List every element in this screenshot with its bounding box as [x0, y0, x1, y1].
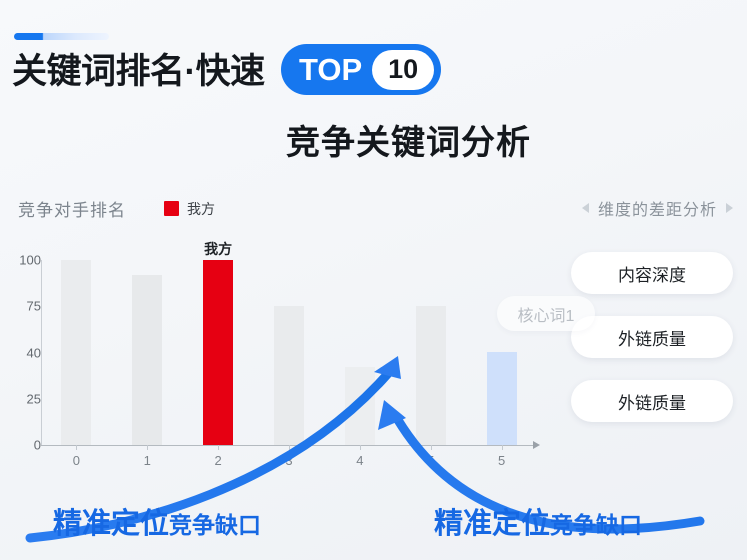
dimension-pill-list: 内容深度外链质量外链质量 [571, 252, 733, 422]
kicker-title: 关键词排名·快速 [12, 54, 265, 89]
legend-swatch-icon [164, 201, 179, 216]
callout-right: 精准定位 竞争缺口 [434, 500, 642, 542]
chart-caption: 竞争对手排名 [18, 196, 126, 221]
dimension-title: 维度的差距分析 [598, 196, 717, 220]
top-rank-badge: TOP 10 [281, 44, 441, 95]
callout-left-strong: 精准定位 [53, 500, 169, 542]
callout-left-light: 竞争缺口 [169, 506, 261, 540]
top-badge-label: TOP [299, 54, 362, 85]
dimension-pill[interactable]: 外链质量 [571, 380, 733, 422]
accent-progress-bar [14, 33, 109, 40]
callout-right-light: 竞争缺口 [550, 506, 642, 540]
callout-left: 精准定位 竞争缺口 [53, 500, 261, 542]
core-word-pill[interactable]: 核心词1 [497, 296, 595, 331]
page-title: 竞争关键词分析 [0, 115, 747, 164]
top-badge-number: 10 [372, 50, 434, 90]
triangle-left-icon[interactable] [582, 203, 589, 213]
chart-header: 竞争对手排名 我方 [18, 196, 215, 221]
dimension-pill[interactable]: 外链质量 [571, 316, 733, 358]
header-row: 关键词排名·快速 [12, 45, 265, 97]
legend-label: 我方 [187, 199, 215, 219]
triangle-right-icon[interactable] [726, 203, 733, 213]
chart-legend: 我方 [164, 199, 215, 219]
callout-right-strong: 精准定位 [434, 500, 550, 542]
dimension-header: 维度的差距分析 [582, 196, 733, 220]
dimension-pill[interactable]: 内容深度 [571, 252, 733, 294]
